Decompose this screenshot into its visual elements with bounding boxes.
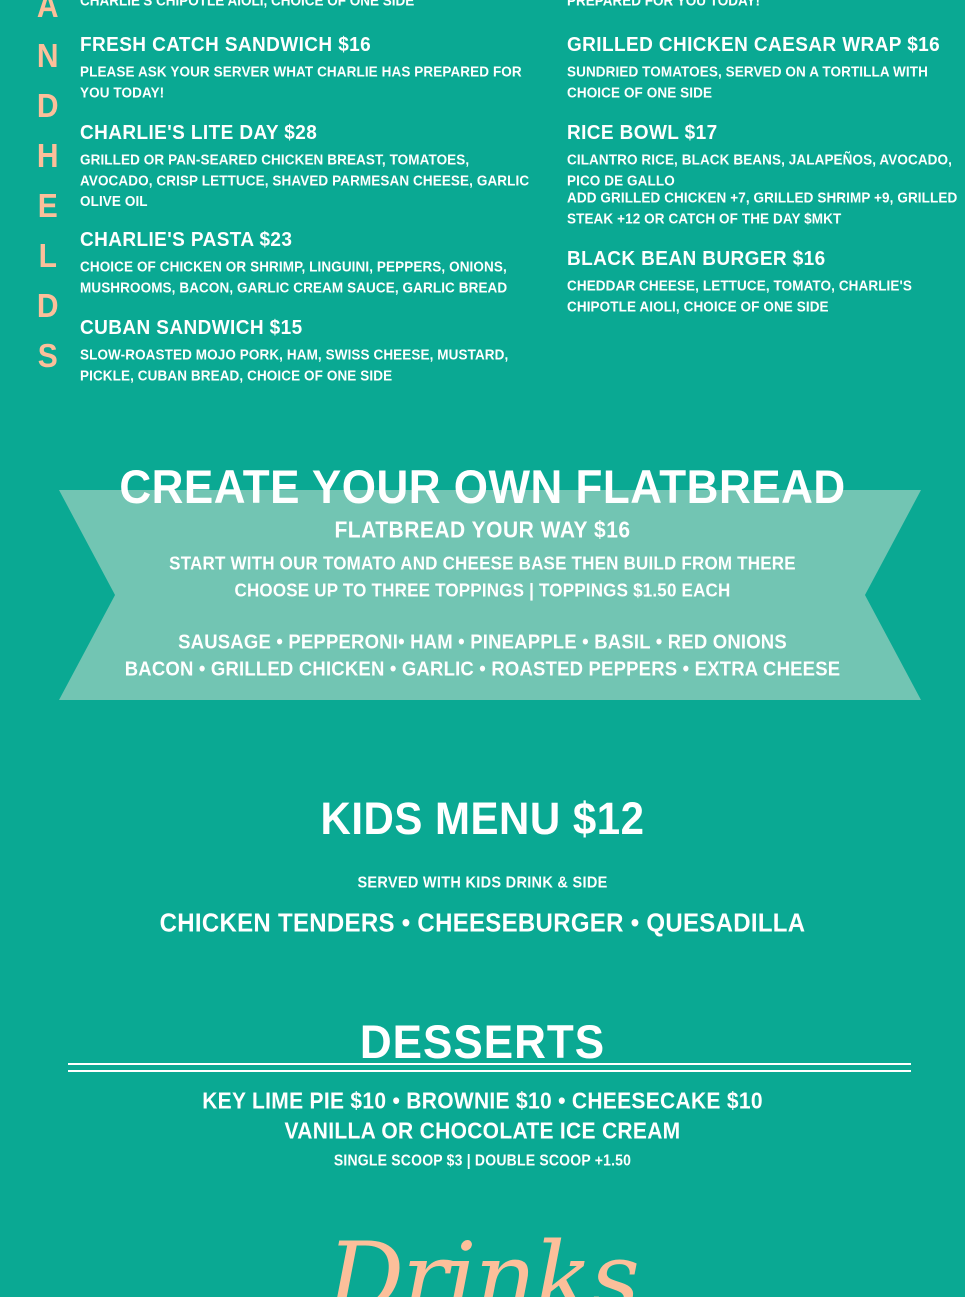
menu-item: CHARLIE'S PASTA $23 CHOICE OF CHICKEN OR… [80,228,530,294]
menu-item-description: SLOW-ROASTED MOJO PORK, HAM, SWISS CHEES… [80,344,530,386]
vertical-letter: D [37,79,59,135]
vertical-letter: E [38,179,59,235]
vertical-letter: L [39,229,58,285]
desserts-scoop-pricing: SINGLE SCOOP $3 | DOUBLE SCOOP +1.50 [0,1151,965,1169]
menu-item: BLACK BEAN BURGER $16 CHEDDAR CHEESE, LE… [567,247,965,313]
menu-item-description: CILANTRO RICE, BLACK BEANS, JALAPEÑOS, A… [567,149,965,191]
menu-item-name: CHARLIE'S PASTA $23 [80,228,530,254]
vertical-letter: S [38,329,59,385]
menu-item-name: CHARLIE'S LITE DAY $28 [80,121,530,147]
menu-item-description: CHOICE OF CHICKEN OR SHRIMP, LINGUINI, P… [80,256,530,298]
flatbread-title: CREATE YOUR OWN FLATBREAD [0,460,965,516]
cutoff-text-right: PREPARED FOR YOU TODAY! [567,0,965,11]
flatbread-instruction-line-1: START WITH OUR TOMATO AND CHEESE BASE TH… [0,553,965,575]
kids-menu-title: KIDS MENU $12 [0,793,965,845]
menu-item-name: BLACK BEAN BURGER $16 [567,247,965,273]
kids-menu-subtitle: SERVED WITH KIDS DRINK & SIDE [0,874,965,892]
menu-item-name: CUBAN SANDWICH $15 [80,316,530,342]
menu-item-description: CHEDDAR CHEESE, LETTUCE, TOMATO, CHARLIE… [567,275,965,317]
vertical-letter: D [37,279,59,335]
menu-item: CHARLIE'S LITE DAY $28 GRILLED OR PAN-SE… [80,121,530,206]
menu-item: GRILLED CHICKEN CAESAR WRAP $16 SUNDRIED… [567,33,965,99]
menu-page: A N D H E L D S CHARLIE'S CHIPOTLE AIOLI… [0,0,965,1297]
menu-item-addons: ADD GRILLED CHICKEN +7, GRILLED SHRIMP +… [567,187,965,229]
desserts-line-1: KEY LIME PIE $10 • BROWNIE $10 • CHEESEC… [0,1089,965,1115]
cutoff-text-left: CHARLIE'S CHIPOTLE AIOLI, CHOICE OF ONE … [80,0,530,11]
handhelds-vertical-label: A N D H E L D S [25,0,71,382]
menu-item-description: PLEASE ASK YOUR SERVER WHAT CHARLIE HAS … [80,61,530,103]
vertical-letter: N [37,29,59,85]
flatbread-subtitle: FLATBREAD YOUR WAY $16 [0,518,965,544]
kids-menu-items: CHICKEN TENDERS • CHEESEBURGER • QUESADI… [0,909,965,939]
flatbread-toppings-line-2: BACON • GRILLED CHICKEN • GARLIC • ROAST… [0,657,965,681]
menu-item-name: GRILLED CHICKEN CAESAR WRAP $16 [567,33,965,59]
menu-item-name: FRESH CATCH SANDWICH $16 [80,33,530,59]
menu-item-name: RICE BOWL $17 [567,121,965,147]
menu-item-description: SUNDRIED TOMATOES, SERVED ON A TORTILLA … [567,61,965,103]
desserts-title: DESSERTS [0,1016,965,1070]
menu-item: CUBAN SANDWICH $15 SLOW-ROASTED MOJO POR… [80,316,530,382]
menu-item-description: GRILLED OR PAN-SEARED CHICKEN BREAST, TO… [80,149,530,212]
flatbread-toppings-line-1: SAUSAGE • PEPPERONI• HAM • PINEAPPLE • B… [0,630,965,654]
menu-item: FRESH CATCH SANDWICH $16 PLEASE ASK YOUR… [80,33,530,99]
desserts-line-2: VANILLA OR CHOCOLATE ICE CREAM [0,1119,965,1145]
menu-item: RICE BOWL $17 CILANTRO RICE, BLACK BEANS… [567,121,965,225]
handhelds-right-column: PREPARED FOR YOU TODAY! GRILLED CHICKEN … [567,0,965,335]
desserts-divider-lower [68,1070,911,1072]
vertical-letter: H [37,129,59,185]
drinks-section-title: Drinks [0,1222,965,1297]
desserts-divider-upper [68,1063,911,1065]
handhelds-left-column: CHARLIE'S CHIPOTLE AIOLI, CHOICE OF ONE … [80,0,530,404]
flatbread-instruction-line-2: CHOOSE UP TO THREE TOPPINGS | TOPPINGS $… [0,580,965,602]
